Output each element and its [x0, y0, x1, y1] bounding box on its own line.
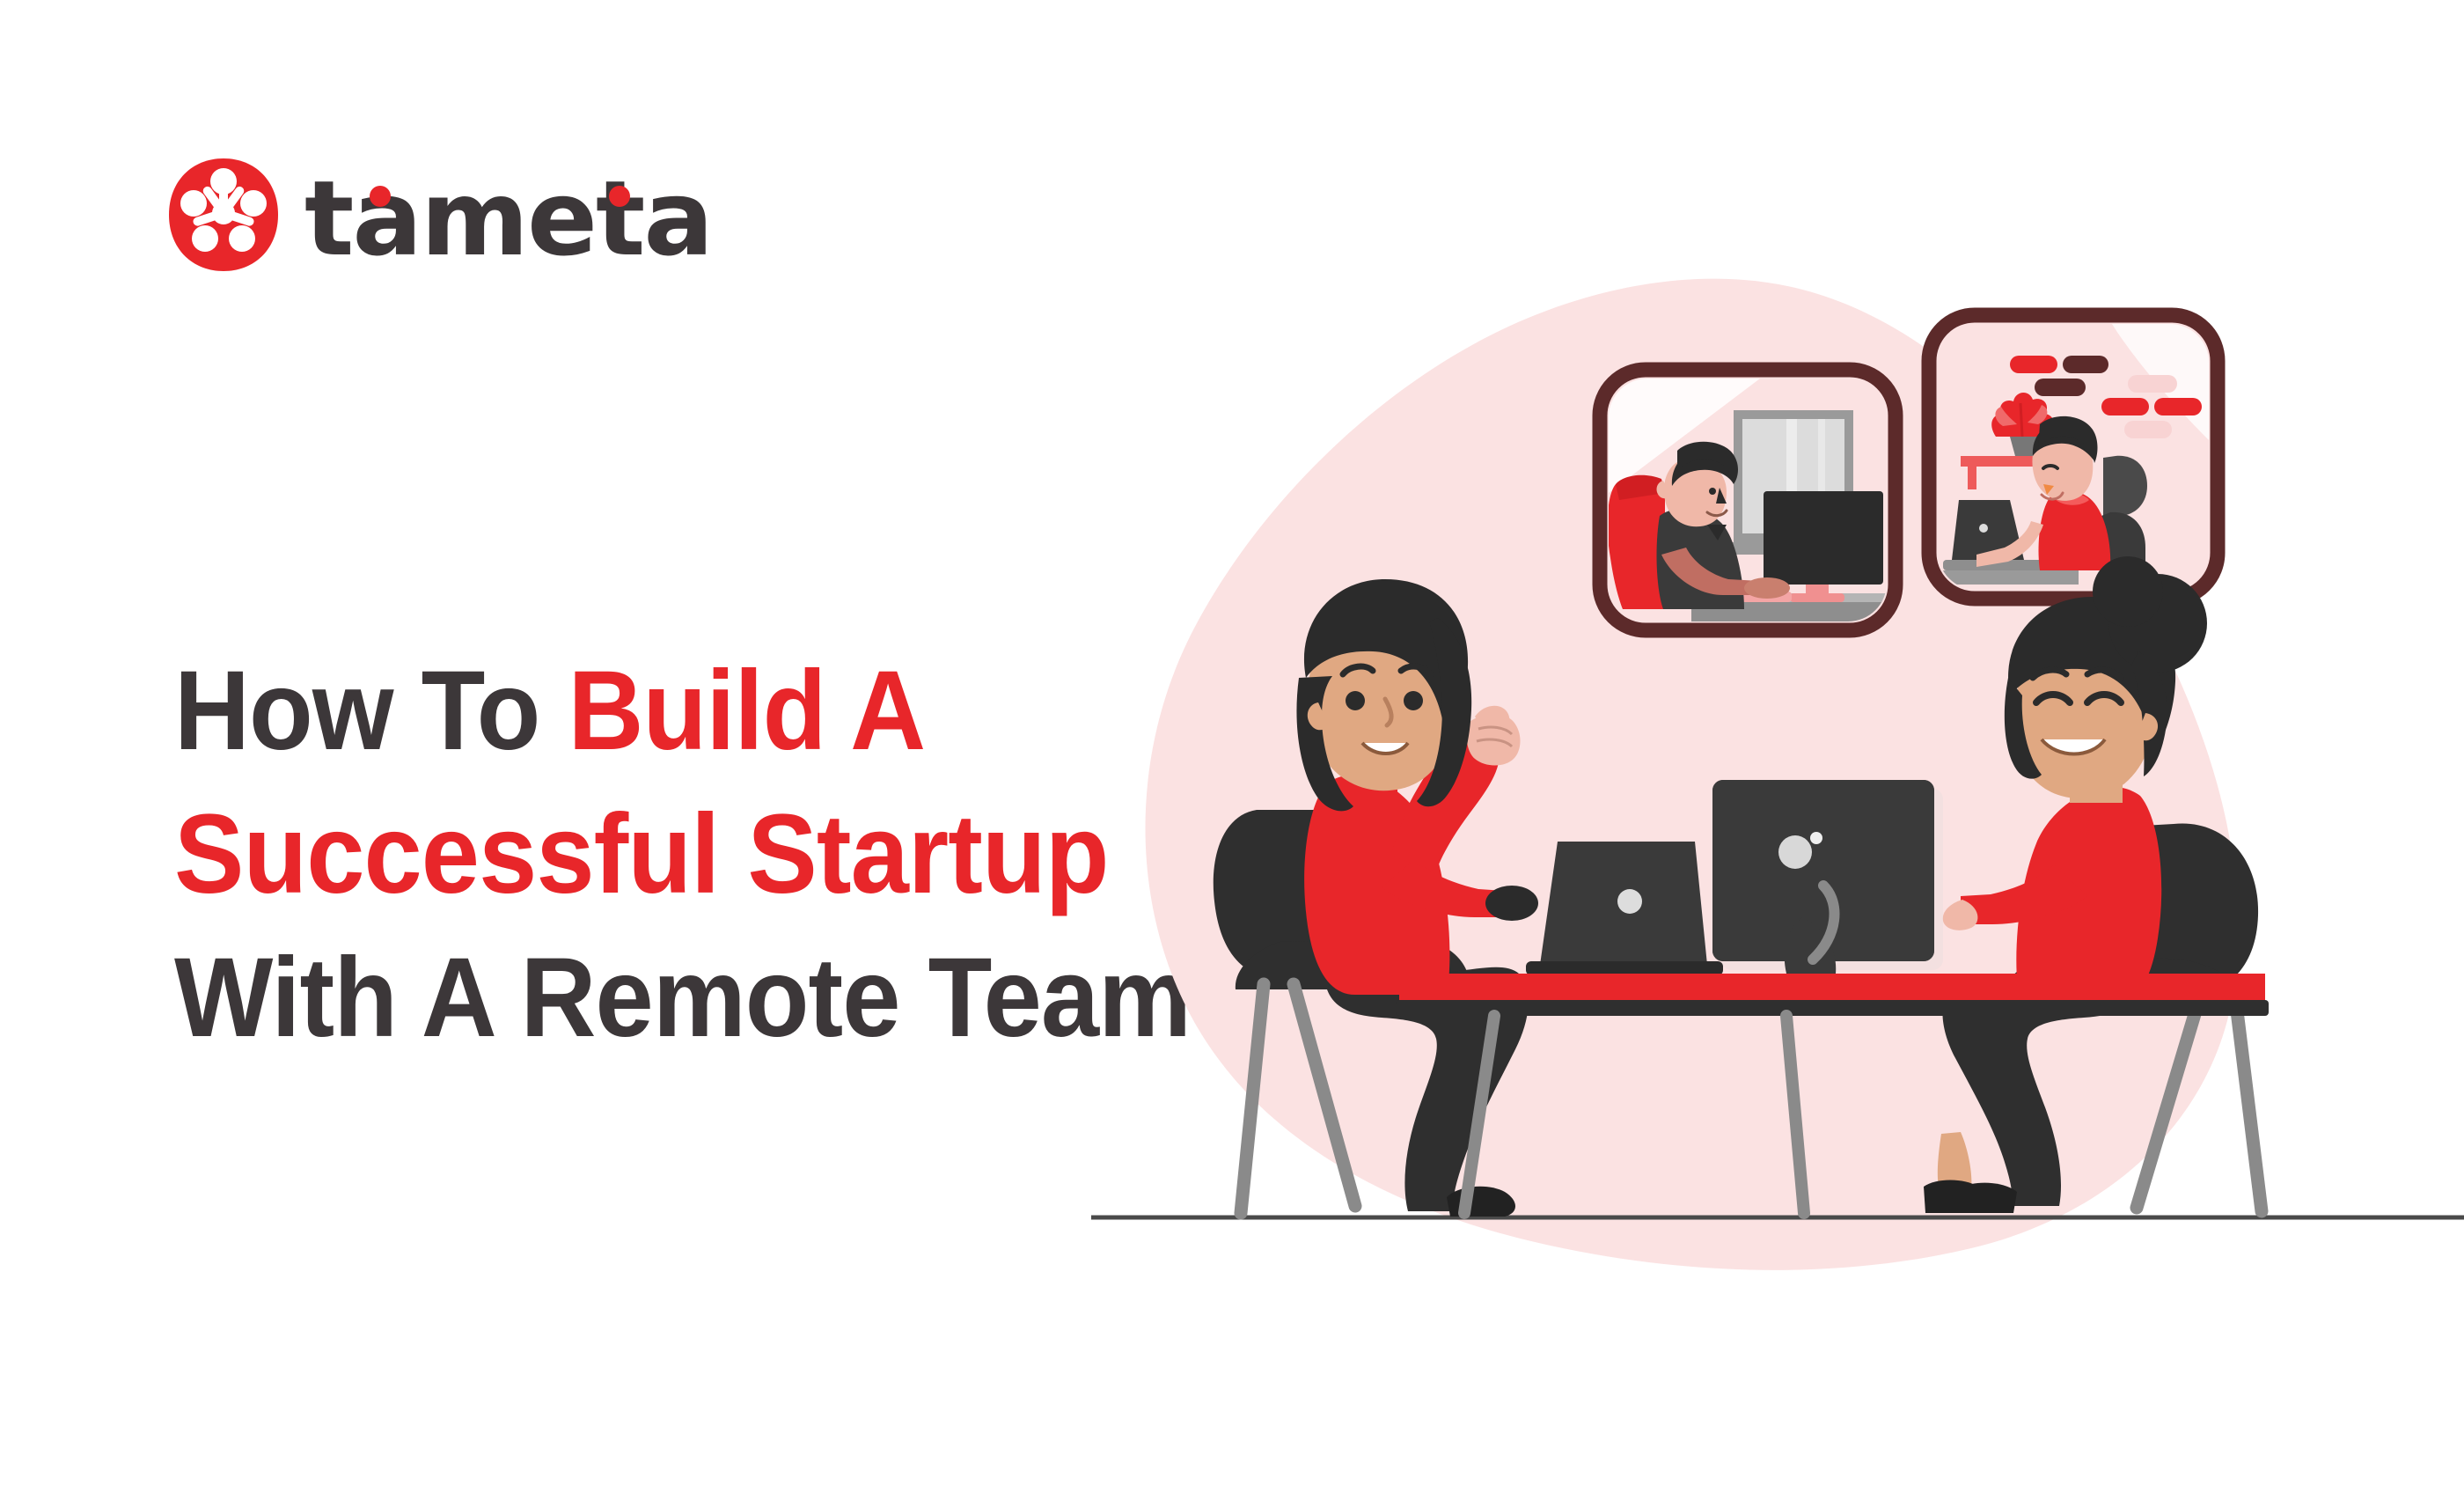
network-node-molecule-icon — [167, 157, 280, 273]
chat-block — [2128, 375, 2177, 393]
chat-block — [2124, 421, 2172, 438]
desktop-monitor — [1712, 780, 1943, 974]
brand-wordmark-text: tameta — [304, 158, 712, 279]
headline-line-1-red: Build A — [568, 648, 926, 774]
poster-canvas: tameta How To Build A Successful Startup… — [0, 0, 2464, 1500]
chat-block — [2010, 356, 2057, 373]
video-card-right — [1929, 315, 2218, 599]
video-card-left — [1600, 370, 1896, 630]
chat-block — [2063, 356, 2108, 373]
brand-wordmark: tameta — [304, 159, 712, 270]
wordmark-dot-one-icon — [370, 186, 391, 207]
chat-block — [2154, 398, 2202, 415]
laptop — [1526, 842, 1723, 975]
hero-illustration — [1091, 264, 2464, 1285]
chat-block — [2101, 398, 2149, 415]
wordmark-dot-two-icon — [609, 186, 630, 207]
brand-logo[interactable]: tameta — [167, 157, 712, 273]
chat-block — [2035, 379, 2086, 396]
headline-line-1-dark: How To — [174, 648, 568, 774]
